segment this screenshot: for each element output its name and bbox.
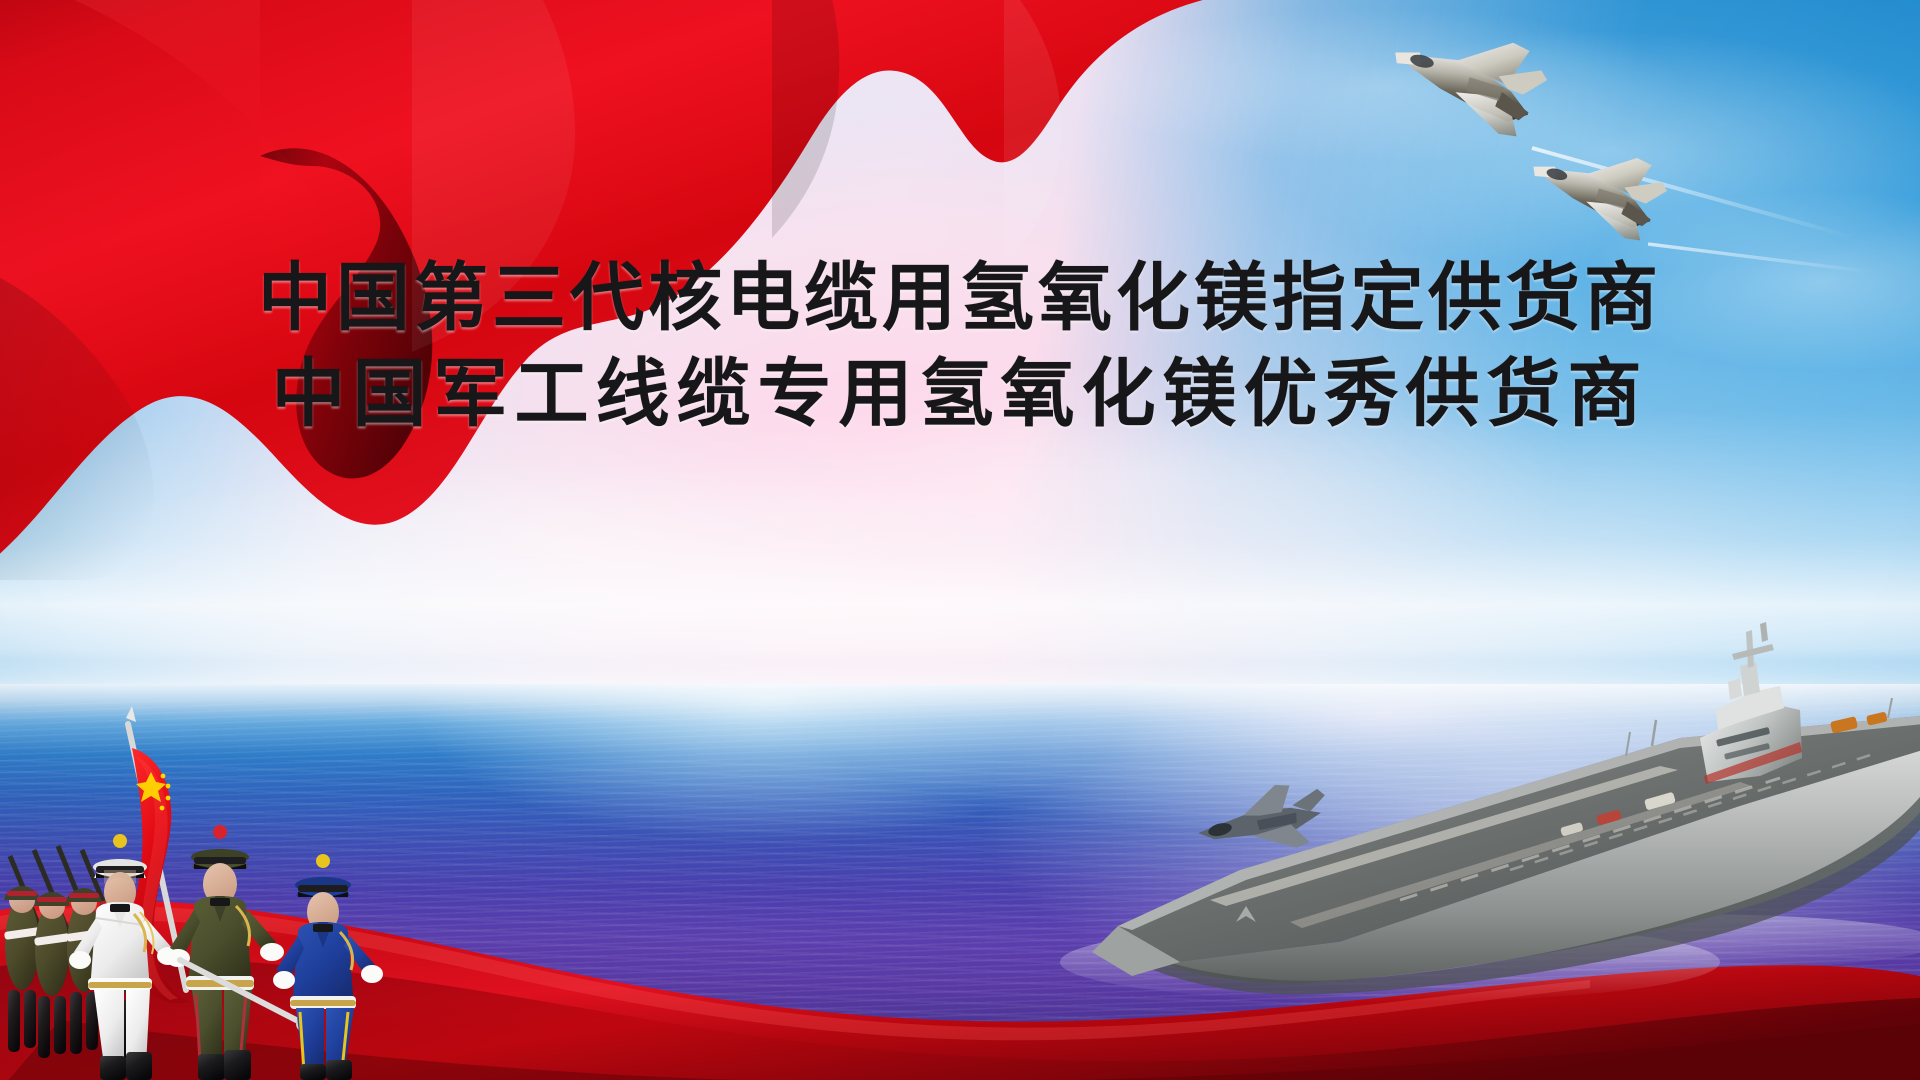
- carrier-island: [1700, 622, 1802, 784]
- fighter-jet-lead: [1382, 20, 1554, 142]
- title-line-1: 中国第三代核电缆用氢氧化镁指定供货商: [0, 250, 1920, 346]
- fighter-jets-group: [1380, 20, 1920, 280]
- aircraft-carrier: [1040, 570, 1920, 1010]
- banner-canvas: 中国第三代核电缆用氢氧化镁指定供货商 中国军工线缆专用氢氧化镁优秀供货商: [0, 0, 1920, 1080]
- honor-guard-formation: [0, 660, 540, 1080]
- guard-airforce: [273, 854, 383, 1080]
- title-line-2: 中国军工线缆专用氢氧化镁优秀供货商: [0, 346, 1920, 442]
- title-block: 中国第三代核电缆用氢氧化镁指定供货商 中国军工线缆专用氢氧化镁优秀供货商: [0, 250, 1920, 442]
